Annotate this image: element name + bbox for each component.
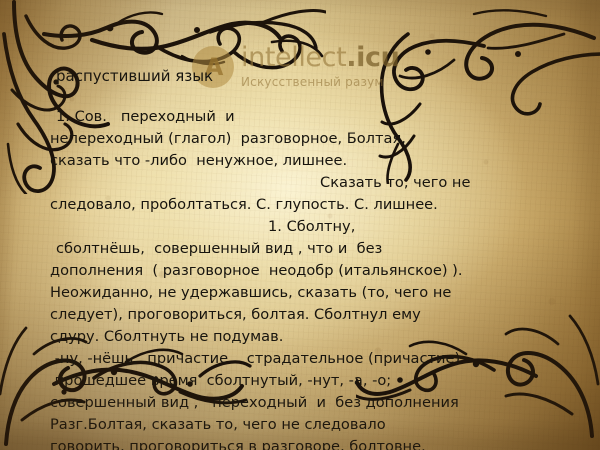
entry-line: сболтнёшь, совершенный вид , что и без xyxy=(50,238,584,260)
entry-line: Неожиданно, не удержавшись, сказать (то,… xyxy=(50,282,584,304)
entry-line: 1. Сболтну, xyxy=(50,216,584,238)
dictionary-slide: A intellect.icu Искусственный разум расп… xyxy=(0,0,600,450)
entry-line: совершенный вид , переходный и без допол… xyxy=(50,392,584,414)
entry-content: распустивший язык 1. Сов. переходный ине… xyxy=(0,0,600,450)
entry-line: 1. Сов. переходный и xyxy=(50,106,584,128)
entry-line: дополнения ( разговорное неодобр (италья… xyxy=(50,260,584,282)
entry-line: непереходный (глагол) разговорное, Болта… xyxy=(50,128,584,150)
entry-line: сдуру. Сболтнуть не подумав. xyxy=(50,326,584,348)
entry-body: 1. Сов. переходный инепереходный (глагол… xyxy=(50,106,584,450)
entry-line: следовало, проболтаться. С. глупость. С.… xyxy=(50,194,584,216)
entry-headword: распустивший язык xyxy=(56,67,213,85)
entry-line: говорить, проговориться в разговоре, бол… xyxy=(50,436,584,450)
entry-line: Разг.Болтая, сказать то, чего не следова… xyxy=(50,414,584,436)
entry-line: -ну, -нёшь; причастие страдательное (при… xyxy=(50,348,584,370)
entry-line: следует), проговориться, болтая. Сболтну… xyxy=(50,304,584,326)
entry-line: сказать что -либо ненужное, лишнее. xyxy=(50,150,584,172)
entry-line: прошедшее время сболтнутый, -нут, -а, -о… xyxy=(50,370,584,392)
entry-line: Сказать то, чего не xyxy=(50,172,584,194)
